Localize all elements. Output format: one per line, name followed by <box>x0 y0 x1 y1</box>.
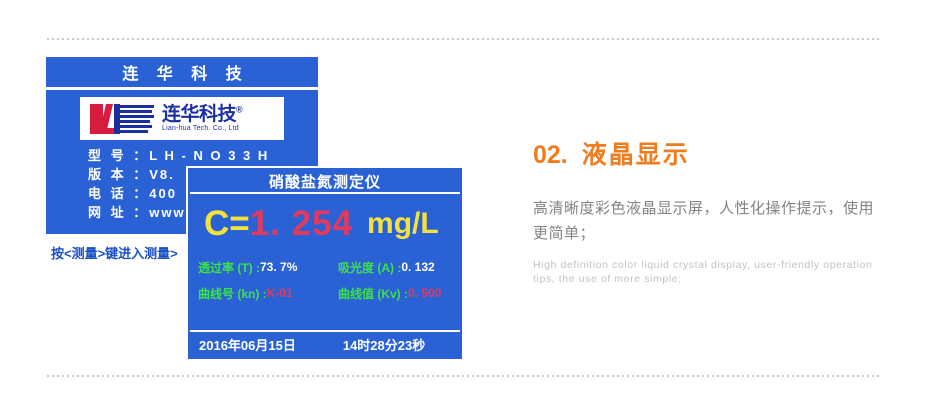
lcd-value-transmittance: 73. 7% <box>260 260 297 274</box>
divider-top <box>47 38 879 40</box>
spec-value-version: V8. <box>149 167 175 182</box>
feature-description: 高清晰度彩色液晶显示屏，人性化操作提示，使用更简单； <box>533 196 878 246</box>
lcd-result-value: 1. 254 <box>250 204 353 244</box>
lcd-label-curve-value: 曲线值 (Kv) : <box>338 285 408 302</box>
lcd-result-prefix: C= <box>204 204 250 244</box>
spec-value-website: www <box>149 205 185 220</box>
spec-label-model: 型 号 ： <box>88 148 149 163</box>
lcd-screen: 硝酸盐氮测定仪 C= 1. 254 mg/L 透过率 (T) : 73. 7% … <box>186 166 464 361</box>
device-title: 连 华 科 技 <box>115 60 248 84</box>
lcd-title: 硝酸盐氮测定仪 <box>190 170 460 194</box>
registered-mark-icon: ® <box>236 105 242 115</box>
lcd-row-transmittance-absorbance: 透过率 (T) : 73. 7% 吸光度 (A) : 0. 132 <box>198 254 452 280</box>
spec-label-phone: 电 话 ： <box>88 186 149 201</box>
spec-label-version: 版 本 ： <box>88 167 149 182</box>
logo-text-cn: 连华科技® <box>162 105 242 124</box>
logo-text-en: Lian-hua Tech. Co., Ltd <box>162 125 242 132</box>
lcd-result-unit: mg/L <box>367 207 439 241</box>
spec-value-model: L H - N O 3 3 H <box>149 148 269 163</box>
lcd-value-absorbance: 0. 132 <box>401 260 434 274</box>
feature-description-en: High definition color liquid crystal dis… <box>533 258 878 286</box>
lcd-row-curve: 曲线号 (kn) : K-01 曲线值 (Kv) : 0. 500 <box>198 280 452 306</box>
lcd-label-transmittance: 透过率 (T) : <box>198 259 260 276</box>
feature-heading-cn: 液晶显示 <box>582 141 690 169</box>
lianhua-logo-icon <box>86 102 158 136</box>
lcd-datetime-bar: 2016年06月15日 14时28分23秒 <box>190 330 460 357</box>
company-logo: 连华科技® Lian-hua Tech. Co., Ltd <box>80 97 284 140</box>
spec-value-phone: 400 <box>149 186 177 201</box>
lcd-value-curve-number: K-01 <box>267 286 293 300</box>
feature-heading: 02.液晶显示 <box>533 135 878 171</box>
logo-text: 连华科技® Lian-hua Tech. Co., Ltd <box>162 105 242 132</box>
lcd-value-curve-value: 0. 500 <box>408 286 441 300</box>
device-footer-hint: 按<测量>键进入测量> <box>46 243 178 262</box>
product-feature-page: 连 华 科 技 连华科技® Lian-hua Tech. Co., L <box>0 0 926 408</box>
lcd-cell-curve-value: 曲线值 (Kv) : 0. 500 <box>338 285 441 302</box>
logo-cn-chars: 连华科技 <box>162 104 236 125</box>
lcd-cell-curve-number: 曲线号 (kn) : K-01 <box>198 285 338 302</box>
lcd-time: 14时28分23秒 <box>343 335 425 354</box>
lcd-cell-transmittance: 透过率 (T) : 73. 7% <box>198 259 338 276</box>
feature-text-block: 02.液晶显示 高清晰度彩色液晶显示屏，人性化操作提示，使用更简单； High … <box>533 135 878 286</box>
spec-row-model: 型 号 ：L H - N O 3 3 H <box>88 146 318 165</box>
lcd-result-readout: C= 1. 254 mg/L <box>190 194 460 254</box>
feature-number: 02. <box>533 141 568 169</box>
device-titlebar: 连 华 科 技 <box>46 57 318 87</box>
lcd-cell-absorbance: 吸光度 (A) : 0. 132 <box>338 259 435 276</box>
lcd-label-curve-number: 曲线号 (kn) : <box>198 285 267 302</box>
lcd-label-absorbance: 吸光度 (A) : <box>338 259 401 276</box>
lcd-date: 2016年06月15日 <box>190 335 296 354</box>
divider-bottom <box>47 375 879 377</box>
spec-label-website: 网 址 ： <box>88 205 149 220</box>
lcd-measurement-rows: 透过率 (T) : 73. 7% 吸光度 (A) : 0. 132 曲线号 (k… <box>190 254 460 306</box>
